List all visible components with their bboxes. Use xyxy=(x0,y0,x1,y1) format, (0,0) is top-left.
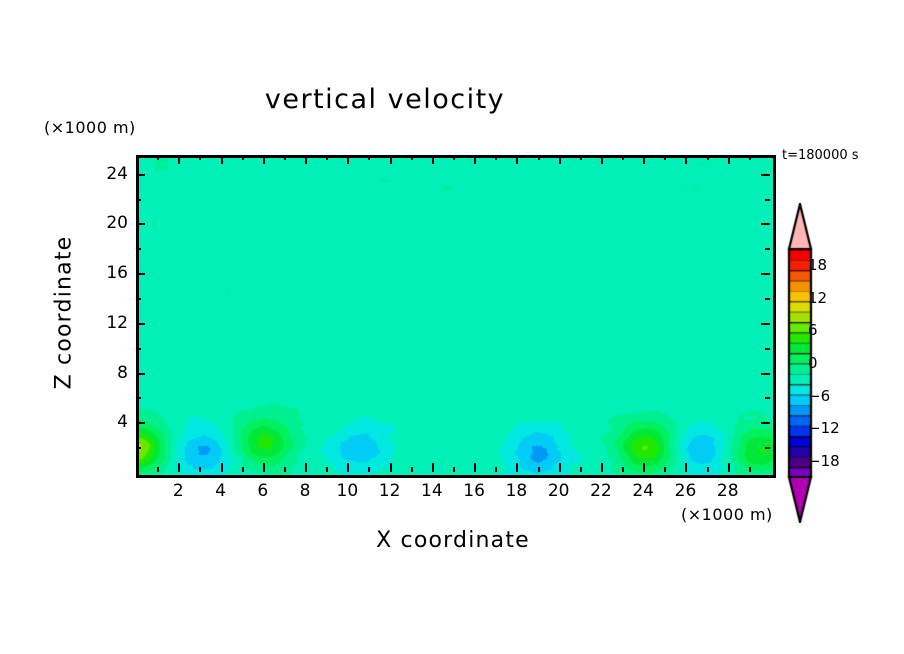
x-axis-tick xyxy=(580,155,582,160)
x-axis-tick xyxy=(221,155,223,164)
colorbar-tick-label: 6 xyxy=(808,321,818,339)
x-axis-tick xyxy=(580,467,582,472)
y-axis-tick xyxy=(761,223,770,225)
colorbar-tick-label: −18 xyxy=(808,452,840,470)
x-axis-tick xyxy=(495,467,497,472)
x-axis-tick-label: 2 xyxy=(173,481,184,501)
y-axis-tick-label: 4 xyxy=(90,412,128,432)
colorbar-tick-label: 18 xyxy=(808,256,827,274)
x-axis-tick xyxy=(221,463,223,472)
y-axis-tick xyxy=(136,298,141,300)
x-axis-tick-label: 14 xyxy=(421,481,443,501)
x-axis-tick xyxy=(516,155,518,164)
contour-field-canvas xyxy=(139,158,773,475)
x-axis-tick xyxy=(474,463,476,472)
y-axis-tick xyxy=(136,223,145,225)
y-axis-tick xyxy=(136,373,145,375)
y-axis-tick xyxy=(761,273,770,275)
y-axis-unit-label: (×1000 m) xyxy=(44,118,136,137)
contour-plot-area xyxy=(136,155,776,478)
x-axis-tick xyxy=(601,463,603,472)
x-axis-tick-label: 16 xyxy=(463,481,485,501)
x-axis-tick-label: 8 xyxy=(300,481,311,501)
x-axis-tick xyxy=(305,463,307,472)
colorbar-tick-label: 12 xyxy=(808,289,827,307)
y-axis-tick xyxy=(136,323,145,325)
y-axis-tick xyxy=(765,298,770,300)
y-axis-tick xyxy=(761,422,770,424)
x-axis-tick xyxy=(242,155,244,160)
x-axis-tick xyxy=(157,155,159,160)
x-axis-tick-label: 28 xyxy=(717,481,739,501)
x-axis-tick xyxy=(390,463,392,472)
x-axis-tick xyxy=(157,467,159,472)
y-axis-tick-label: 12 xyxy=(90,313,128,333)
x-axis-tick xyxy=(749,155,751,160)
x-axis-tick xyxy=(368,155,370,160)
y-axis-tick xyxy=(761,323,770,325)
y-axis-tick xyxy=(136,422,145,424)
x-axis-tick xyxy=(347,463,349,472)
x-axis-tick xyxy=(368,467,370,472)
x-axis-tick xyxy=(685,463,687,472)
x-axis-tick xyxy=(474,155,476,164)
x-axis-tick xyxy=(411,467,413,472)
y-axis-tick xyxy=(136,199,141,201)
x-axis-tick xyxy=(178,155,180,164)
x-axis-tick-label: 24 xyxy=(632,481,654,501)
y-axis-tick xyxy=(761,174,770,176)
y-axis-tick-label: 24 xyxy=(90,164,128,184)
colorbar-tick-labels: 181260−6−12−18 xyxy=(808,203,878,523)
page-title: vertical velocity xyxy=(0,84,770,115)
x-axis-tick xyxy=(326,467,328,472)
x-axis-tick xyxy=(622,155,624,160)
y-axis-tick xyxy=(136,273,145,275)
y-axis-tick xyxy=(136,248,141,250)
x-axis-tick-label: 20 xyxy=(548,481,570,501)
x-axis-title: X coordinate xyxy=(136,528,770,553)
x-axis-tick xyxy=(707,155,709,160)
x-axis-tick xyxy=(263,155,265,164)
x-axis-tick xyxy=(728,463,730,472)
x-axis-tick xyxy=(559,155,561,164)
x-axis-tick xyxy=(178,463,180,472)
x-axis-tick xyxy=(728,155,730,164)
x-axis-tick xyxy=(347,155,349,164)
x-axis-tick xyxy=(643,463,645,472)
x-axis-tick xyxy=(538,467,540,472)
x-axis-tick xyxy=(199,467,201,472)
x-axis-tick xyxy=(284,155,286,160)
x-axis-tick xyxy=(432,155,434,164)
x-axis-tick-label: 12 xyxy=(379,481,401,501)
x-axis-tick-label: 18 xyxy=(506,481,528,501)
colorbar-tick-label: −6 xyxy=(808,387,830,405)
x-axis-tick xyxy=(685,155,687,164)
time-annotation: t=180000 s xyxy=(782,148,859,163)
y-axis-title: Z coordinate xyxy=(52,228,77,398)
x-axis-tick-label: 26 xyxy=(675,481,697,501)
x-axis-tick xyxy=(453,155,455,160)
x-axis-tick-label: 6 xyxy=(257,481,268,501)
y-axis-tick xyxy=(765,199,770,201)
y-axis-tick-label: 16 xyxy=(90,263,128,283)
y-axis-tick xyxy=(765,397,770,399)
y-axis-tick xyxy=(765,447,770,449)
x-axis-tick xyxy=(284,467,286,472)
y-axis-tick xyxy=(136,447,141,449)
x-axis-tick xyxy=(664,467,666,472)
x-axis-tick xyxy=(622,467,624,472)
y-axis-tick xyxy=(761,373,770,375)
y-axis-tick xyxy=(136,348,141,350)
y-axis-tick xyxy=(136,174,145,176)
x-axis-tick xyxy=(199,155,201,160)
x-axis-tick xyxy=(707,467,709,472)
colorbar-tick-label: −12 xyxy=(808,419,840,437)
x-axis-tick xyxy=(559,463,561,472)
x-axis-tick xyxy=(390,155,392,164)
x-axis-unit-label: (×1000 m) xyxy=(681,505,773,524)
x-axis-tick xyxy=(263,463,265,472)
x-axis-tick xyxy=(305,155,307,164)
x-axis-tick-label: 4 xyxy=(215,481,226,501)
y-axis-tick-label: 8 xyxy=(90,363,128,383)
x-axis-tick xyxy=(242,467,244,472)
y-axis-tick xyxy=(136,397,141,399)
x-axis-tick xyxy=(453,467,455,472)
x-axis-tick xyxy=(538,155,540,160)
x-axis-tick xyxy=(664,155,666,160)
x-axis-tick xyxy=(432,463,434,472)
x-axis-tick xyxy=(326,155,328,160)
y-axis-tick xyxy=(765,248,770,250)
x-axis-tick xyxy=(495,155,497,160)
x-axis-tick-label: 22 xyxy=(590,481,612,501)
figure-root: vertical velocity (×1000 m) (×1000 m) Z … xyxy=(0,0,904,654)
y-axis-tick-label: 20 xyxy=(90,213,128,233)
x-axis-tick xyxy=(516,463,518,472)
x-axis-tick xyxy=(643,155,645,164)
x-axis-tick xyxy=(411,155,413,160)
x-axis-tick xyxy=(749,467,751,472)
x-axis-tick xyxy=(601,155,603,164)
y-axis-tick xyxy=(765,348,770,350)
x-axis-tick-label: 10 xyxy=(337,481,359,501)
colorbar-tick-label: 0 xyxy=(808,354,818,372)
